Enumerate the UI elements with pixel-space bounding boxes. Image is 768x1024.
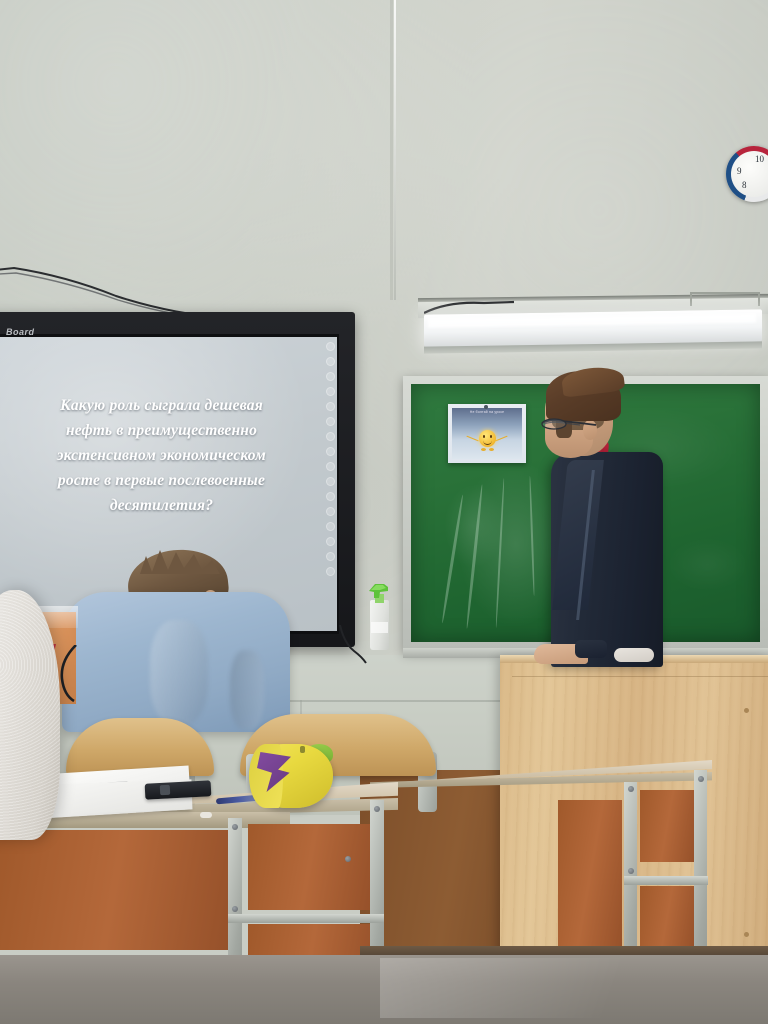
- poster-artwork: Не болтай на уроке: [452, 408, 522, 459]
- podium-screw: [744, 932, 749, 937]
- shirt-fold: [230, 650, 264, 730]
- desk-modesty-panel: [248, 824, 370, 910]
- classroom-poster: Не болтай на уроке: [448, 404, 526, 463]
- board-side-button[interactable]: [326, 372, 335, 381]
- clock-face: 10 9 8: [731, 151, 768, 197]
- slide-line-2: нефть в преимущественно: [0, 418, 329, 443]
- desk-modesty-panel: [640, 790, 694, 862]
- podium-screw: [744, 708, 749, 713]
- board-power-cord: [338, 625, 368, 665]
- spray-bottle[interactable]: [366, 578, 392, 650]
- slide-line-4: росте в первые послевоенные: [0, 468, 329, 493]
- classroom-scene: 10 9 8 Не болтай на уроке: [0, 0, 768, 1024]
- sun-foot-right: [489, 448, 494, 451]
- desk-crossbar: [228, 914, 384, 923]
- spray-nozzle-icon: [368, 580, 390, 602]
- desk-bolt: [628, 868, 634, 874]
- sun-mouth: [483, 440, 492, 445]
- board-brand-label: Board: [6, 327, 35, 337]
- sun-eye-left: [483, 435, 485, 438]
- shirt-fold: [150, 620, 208, 725]
- presenter-sleeve-cuff: [575, 640, 607, 658]
- clock-numeral-9: 9: [737, 166, 742, 176]
- sun-arm-left: [466, 436, 479, 442]
- clock-numeral-10: 10: [755, 154, 764, 164]
- slide-text: Какую роль сыграла дешевая нефть в преим…: [0, 393, 329, 519]
- desk-bolt: [374, 806, 380, 812]
- board-side-button[interactable]: [326, 552, 335, 561]
- board-side-button[interactable]: [326, 417, 335, 426]
- board-side-button[interactable]: [326, 447, 335, 456]
- desk-crossbar: [624, 876, 708, 885]
- desk-modesty-panel: [640, 886, 694, 948]
- board-side-button[interactable]: [326, 567, 335, 576]
- podium-paper: [614, 648, 654, 662]
- phone-camera-icon: [160, 785, 171, 796]
- board-side-button[interactable]: [326, 402, 335, 411]
- desk-modesty-panel: [0, 830, 228, 950]
- floor-reflection: [380, 958, 768, 1018]
- clock-numeral-8: 8: [742, 180, 747, 190]
- pencil-case-zipper: [300, 746, 305, 753]
- board-side-button[interactable]: [326, 357, 335, 366]
- board-side-button[interactable]: [326, 477, 335, 486]
- desk-bolt: [628, 786, 634, 792]
- desk-modesty-panel: [558, 800, 622, 950]
- slide-line-5: десятилетия?: [0, 493, 329, 518]
- slide-line-1: Какую роль сыграла дешевая: [0, 393, 329, 418]
- board-side-button[interactable]: [326, 537, 335, 546]
- student-hair: [132, 548, 228, 576]
- eraser[interactable]: [200, 812, 212, 818]
- board-side-button[interactable]: [326, 462, 335, 471]
- board-side-button[interactable]: [326, 522, 335, 531]
- podium-seam: [512, 676, 768, 677]
- smiling-sun-icon: [479, 430, 496, 447]
- wall-seam-shadow: [390, 0, 393, 300]
- board-side-button[interactable]: [326, 492, 335, 501]
- sun-foot-left: [481, 448, 486, 451]
- light-bracket: [690, 292, 760, 306]
- slide-line-3: экстенсивном экономическом: [0, 443, 329, 468]
- desk-bolt: [232, 906, 238, 912]
- desk-bolt: [345, 856, 351, 862]
- board-side-button[interactable]: [326, 387, 335, 396]
- sun-arm-right: [495, 436, 508, 442]
- glasses-icon: [540, 416, 602, 432]
- board-side-button[interactable]: [326, 342, 335, 351]
- board-side-button[interactable]: [326, 507, 335, 516]
- sun-eye-right: [490, 435, 492, 438]
- board-side-button[interactable]: [326, 432, 335, 441]
- poster-pin: [484, 405, 488, 409]
- desk-bolt: [232, 824, 238, 830]
- board-side-buttons[interactable]: [324, 342, 336, 592]
- desk-bolt: [698, 776, 704, 782]
- spray-bottle-label: [371, 622, 388, 633]
- wall-seam: [394, 0, 396, 300]
- poster-title: Не болтай на уроке: [452, 410, 522, 415]
